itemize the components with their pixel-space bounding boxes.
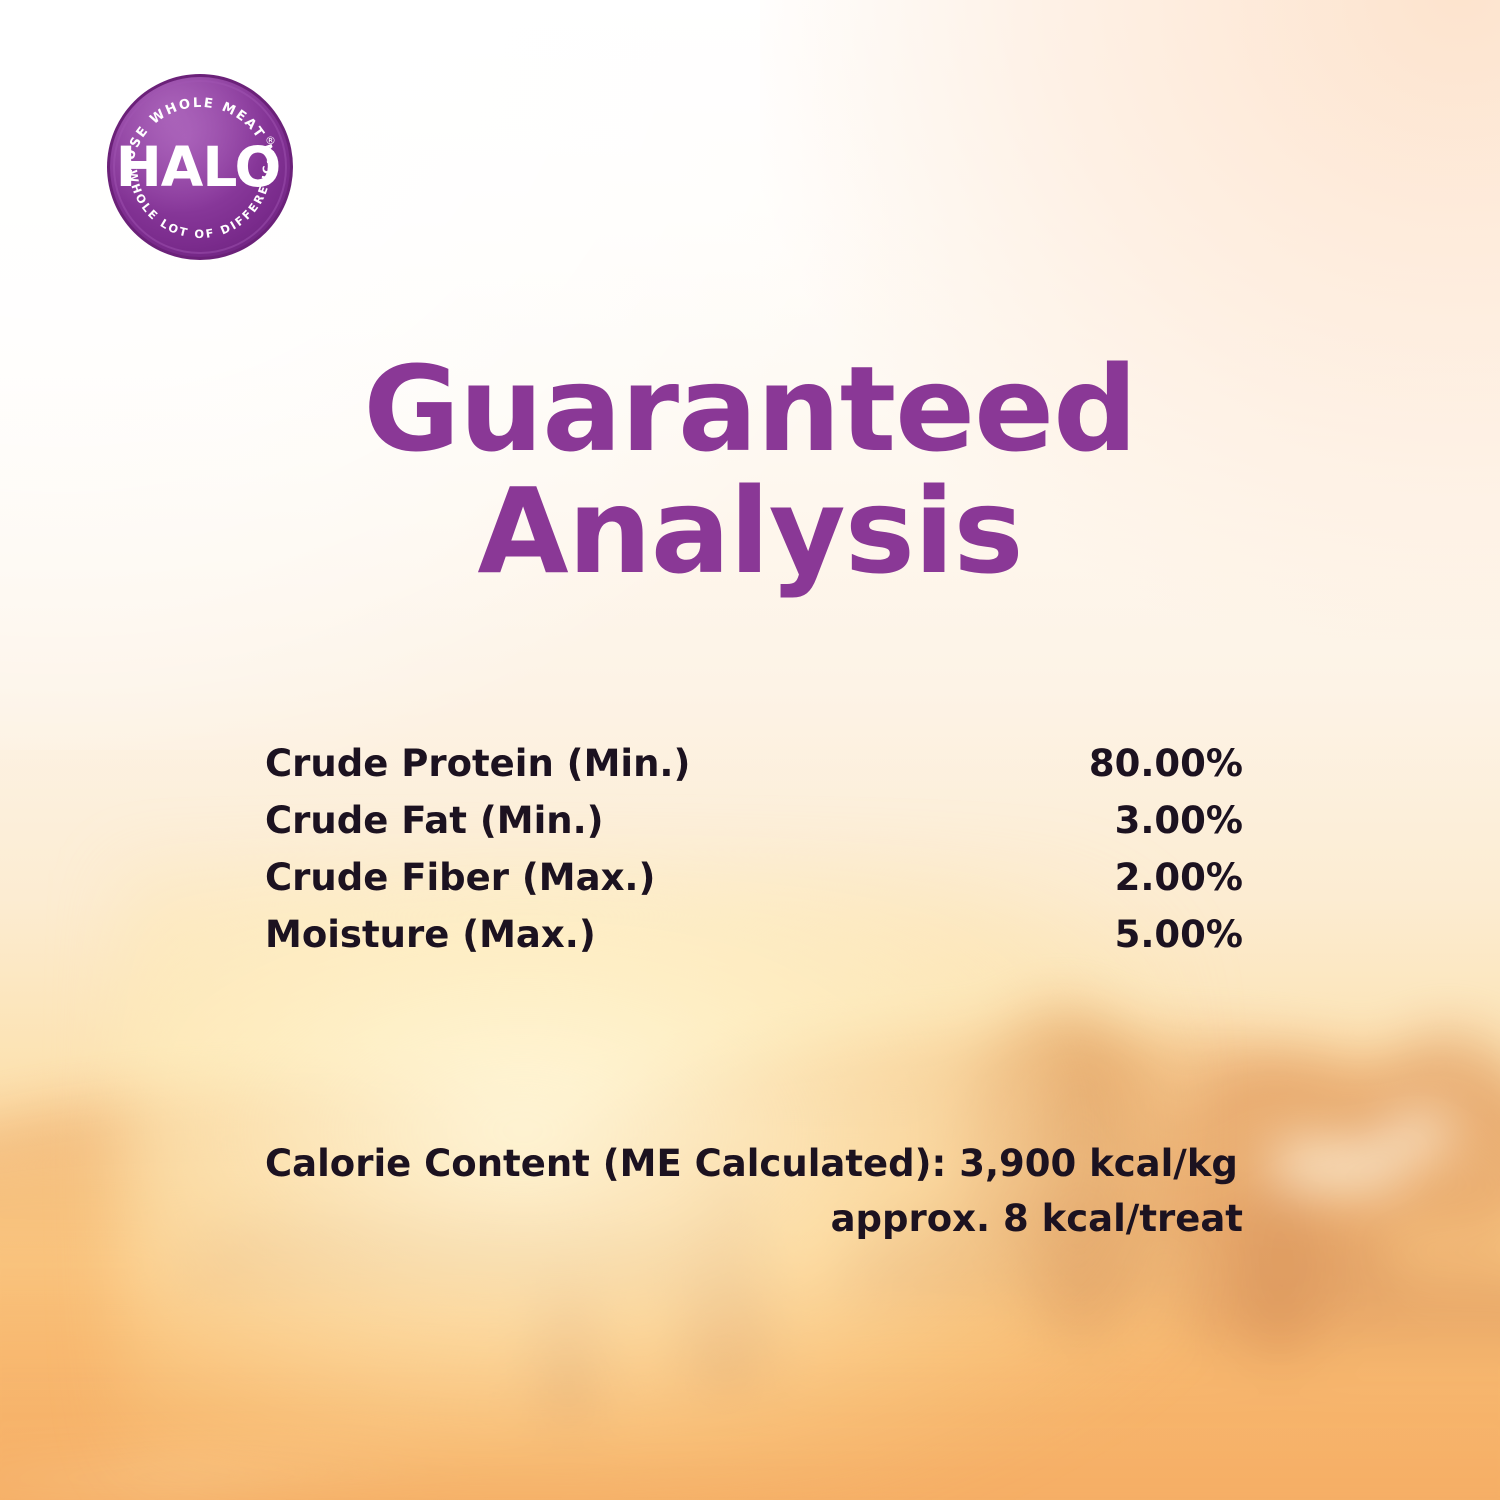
nutrient-value: 2.00% <box>1115 856 1243 899</box>
table-row: Moisture (Max.) 5.00% <box>265 913 1243 970</box>
registered-trademark-icon: ® <box>265 134 276 147</box>
nutrient-label: Crude Fat (Min.) <box>265 799 604 842</box>
nutrient-value: 5.00% <box>1115 913 1243 956</box>
table-row: Crude Protein (Min.) 80.00% <box>265 742 1243 799</box>
table-row: Crude Fat (Min.) 3.00% <box>265 799 1243 856</box>
page-title-line-2: Analysis <box>0 474 1500 590</box>
calorie-content-block: Calorie Content (ME Calculated): 3,900 k… <box>265 1137 1243 1247</box>
page-title-line-1: Guaranteed <box>0 352 1500 468</box>
halo-logo[interactable]: BECAUSE WHOLE MEAT MAKES A WHOLE LOT OF … <box>105 72 295 262</box>
nutrient-label: Crude Fiber (Max.) <box>265 856 655 899</box>
halo-logo-wordmark: HALO <box>116 135 280 199</box>
nutrient-value: 80.00% <box>1089 742 1243 785</box>
nutrient-label: Crude Protein (Min.) <box>265 742 690 785</box>
calorie-content-line-2: approx. 8 kcal/treat <box>265 1192 1243 1247</box>
page-content: BECAUSE WHOLE MEAT MAKES A WHOLE LOT OF … <box>0 0 1500 1500</box>
nutrient-value: 3.00% <box>1115 799 1243 842</box>
guaranteed-analysis-table: Crude Protein (Min.) 80.00% Crude Fat (M… <box>265 742 1243 970</box>
calorie-content-line-1: Calorie Content (ME Calculated): 3,900 k… <box>265 1137 1243 1192</box>
halo-logo-icon: BECAUSE WHOLE MEAT MAKES A WHOLE LOT OF … <box>105 72 295 262</box>
page-title: Guaranteed Analysis <box>0 352 1500 589</box>
nutrient-label: Moisture (Max.) <box>265 913 596 956</box>
table-row: Crude Fiber (Max.) 2.00% <box>265 856 1243 913</box>
